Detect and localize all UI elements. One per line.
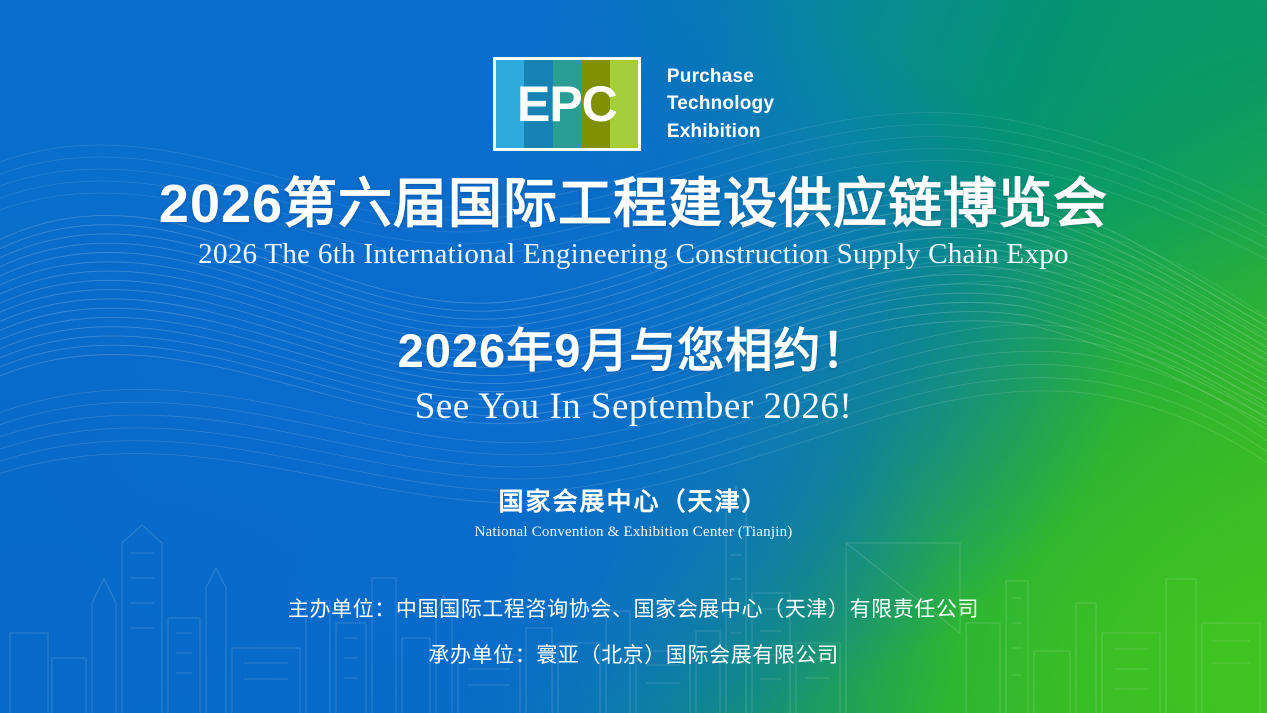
host-organization: 主办单位：中国国际工程咨询协会、国家会展中心（天津）有限责任公司: [288, 593, 979, 623]
epc-logo-letters: EPC: [496, 60, 638, 148]
epc-logo-mark: EPC: [493, 57, 641, 151]
epc-logo-tagline: Purchase Technology Exhibition: [667, 63, 774, 146]
logo-tagline-line-2: Technology: [667, 90, 774, 118]
event-title-cn: 2026第六届国际工程建设供应链博览会: [159, 175, 1108, 234]
slogan-en: See You In September 2026!: [415, 385, 852, 428]
epc-logo: EPC Purchase Technology Exhibition: [493, 57, 774, 151]
event-poster: EPC Purchase Technology Exhibition 2026第…: [0, 0, 1267, 713]
venue-name-cn: 国家会展中心（天津）: [498, 482, 768, 518]
organizing-company: 承办单位：寰亚（北京）国际会展有限公司: [428, 639, 838, 669]
logo-tagline-line-3: Exhibition: [667, 118, 774, 146]
logo-tagline-line-1: Purchase: [667, 63, 774, 91]
event-title-en: 2026 The 6th International Engineering C…: [198, 238, 1069, 271]
venue-name-en: National Convention & Exhibition Center …: [475, 524, 793, 541]
poster-content: EPC Purchase Technology Exhibition 2026第…: [0, 0, 1267, 713]
slogan-cn: 2026年9月与您相约！: [398, 325, 870, 377]
